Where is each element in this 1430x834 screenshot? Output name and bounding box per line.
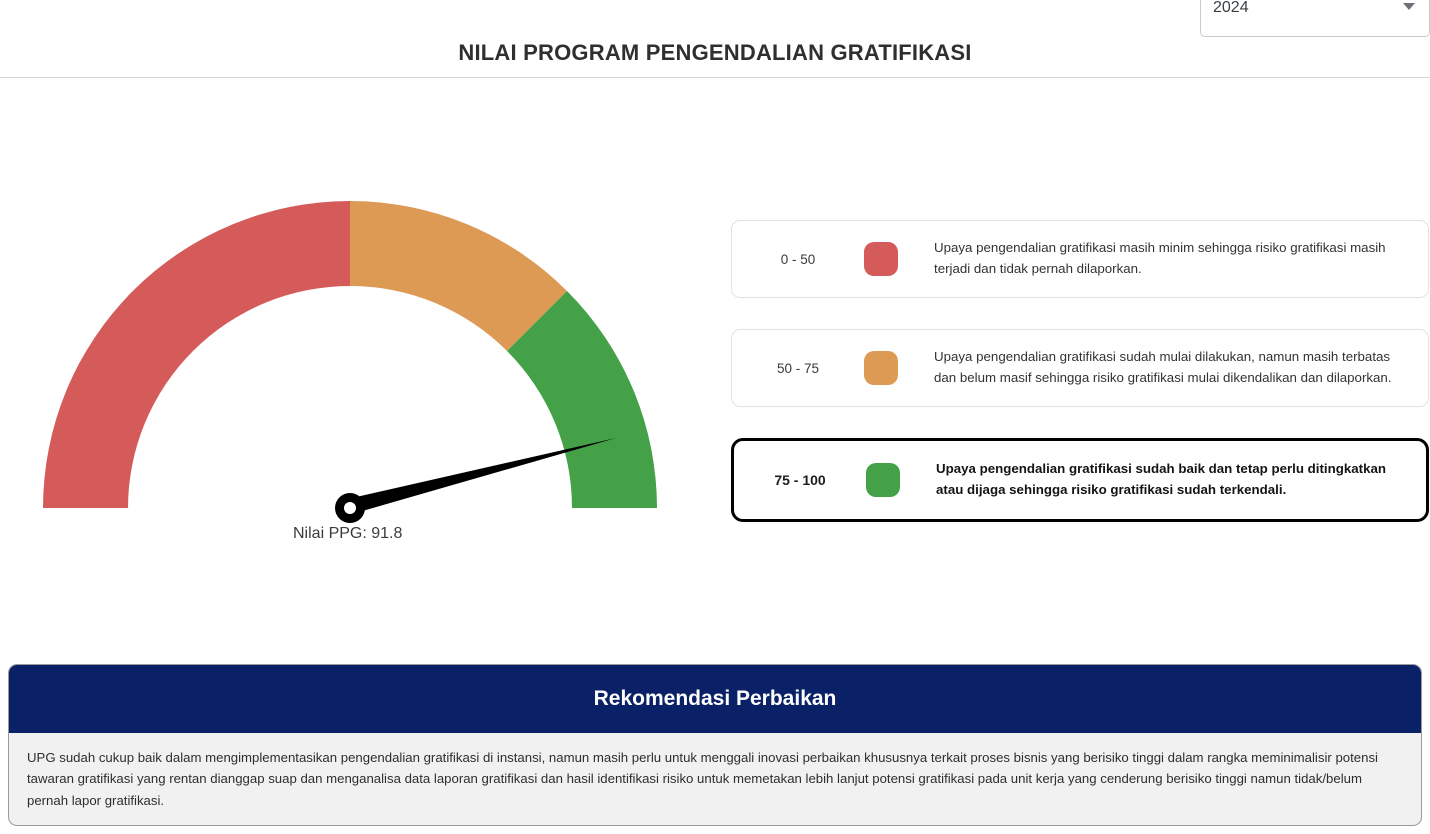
gauge-svg [0, 150, 720, 580]
legend-text-low: Upaya pengendalian gratifikasi masih min… [898, 238, 1428, 279]
legend-list: 0 - 50 Upaya pengendalian gratifikasi ma… [731, 220, 1429, 553]
legend-text-mid: Upaya pengendalian gratifikasi sudah mul… [898, 347, 1428, 388]
legend-range-mid: 50 - 75 [732, 361, 864, 376]
legend-card-low[interactable]: 0 - 50 Upaya pengendalian gratifikasi ma… [731, 220, 1429, 298]
gauge-hub-center [344, 502, 356, 514]
legend-swatch-mid [864, 351, 898, 385]
gauge-band-low [43, 201, 350, 508]
legend-text-high: Upaya pengendalian gratifikasi sudah bai… [900, 459, 1426, 500]
recommendation-title: Rekomendasi Perbaikan [9, 665, 1421, 733]
legend-swatch-low [864, 242, 898, 276]
legend-card-mid[interactable]: 50 - 75 Upaya pengendalian gratifikasi s… [731, 329, 1429, 407]
recommendation-body: UPG sudah cukup baik dalam mengimplement… [9, 733, 1421, 811]
year-select[interactable]: Tahun 2024 [1200, 0, 1430, 37]
legend-range-low: 0 - 50 [732, 252, 864, 267]
gauge-value-label: Nilai PPG: 91.8 [0, 525, 700, 543]
legend-range-high: 75 - 100 [734, 472, 866, 488]
dashboard-page: NILAI PROGRAM PENGENDALIAN GRATIFIKASI T… [0, 0, 1430, 834]
page-title: NILAI PROGRAM PENGENDALIAN GRATIFIKASI [0, 40, 1430, 66]
chevron-down-icon[interactable] [1403, 3, 1415, 10]
recommendation-panel: Rekomendasi Perbaikan UPG sudah cukup ba… [8, 664, 1422, 826]
year-select-value: 2024 [1213, 0, 1249, 17]
legend-swatch-high [866, 463, 900, 497]
legend-card-high[interactable]: 75 - 100 Upaya pengendalian gratifikasi … [731, 438, 1429, 522]
ppg-gauge: Nilai PPG: 91.8 [0, 150, 720, 580]
